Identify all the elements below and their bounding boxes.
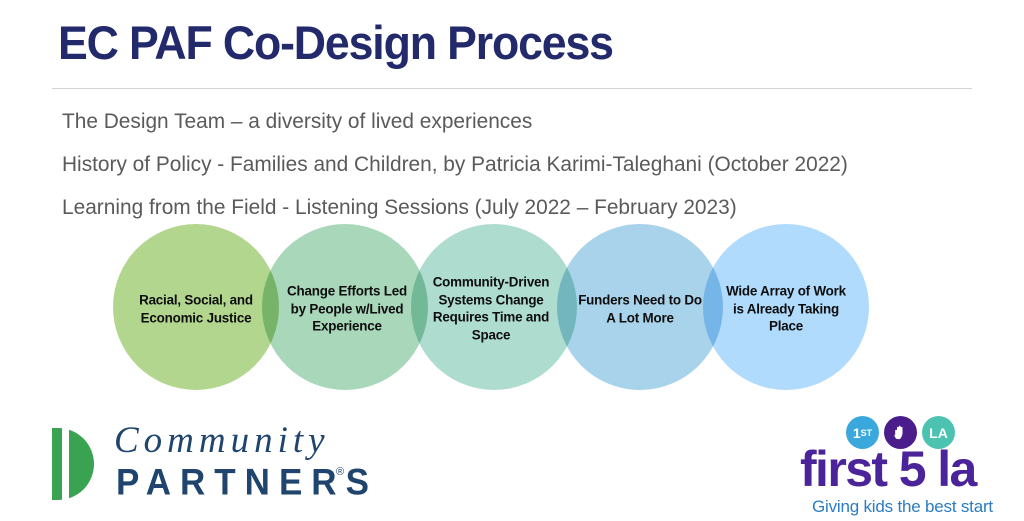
page-title: EC PAF Co-Design Process — [58, 16, 613, 70]
bullet-list: The Design Team – a diversity of lived e… — [62, 100, 1012, 229]
registered-trademark-icon: ® — [336, 466, 344, 478]
bullet-line-3: Learning from the Field - Listening Sess… — [62, 186, 984, 229]
title-divider — [52, 88, 972, 89]
venn-label-2: Change Efforts Led by People w/Lived Exp… — [282, 282, 412, 335]
bullet-line-1: The Design Team – a diversity of lived e… — [62, 100, 984, 143]
venn-label-4: Funders Need to Do A Lot More — [575, 291, 705, 326]
first5la-wordmark: first 5 la — [800, 444, 976, 494]
leaf-shape — [52, 428, 94, 500]
community-partners-script-word: Community — [114, 422, 330, 459]
bullet-line-2: History of Policy - Families and Childre… — [62, 143, 984, 186]
first5la-logo: 1ST LA first 5 la Giving kids the best s… — [800, 416, 1000, 516]
badge-1st-number: 1 — [853, 425, 861, 441]
badge-1st-suffix: ST — [861, 428, 873, 438]
first5la-tagline: Giving kids the best start — [812, 498, 993, 515]
venn-label-group: Racial, Social, and Economic Justice Cha… — [0, 224, 1024, 394]
venn-label-3: Community-Driven Systems Change Requires… — [426, 274, 556, 345]
community-partners-mark-icon — [52, 428, 98, 500]
venn-label-1: Racial, Social, and Economic Justice — [131, 291, 261, 326]
community-partners-logo: Community PARTNERS ® — [52, 420, 362, 510]
venn-label-5: Wide Array of Work is Already Taking Pla… — [721, 282, 851, 335]
stem-shape — [62, 428, 69, 500]
